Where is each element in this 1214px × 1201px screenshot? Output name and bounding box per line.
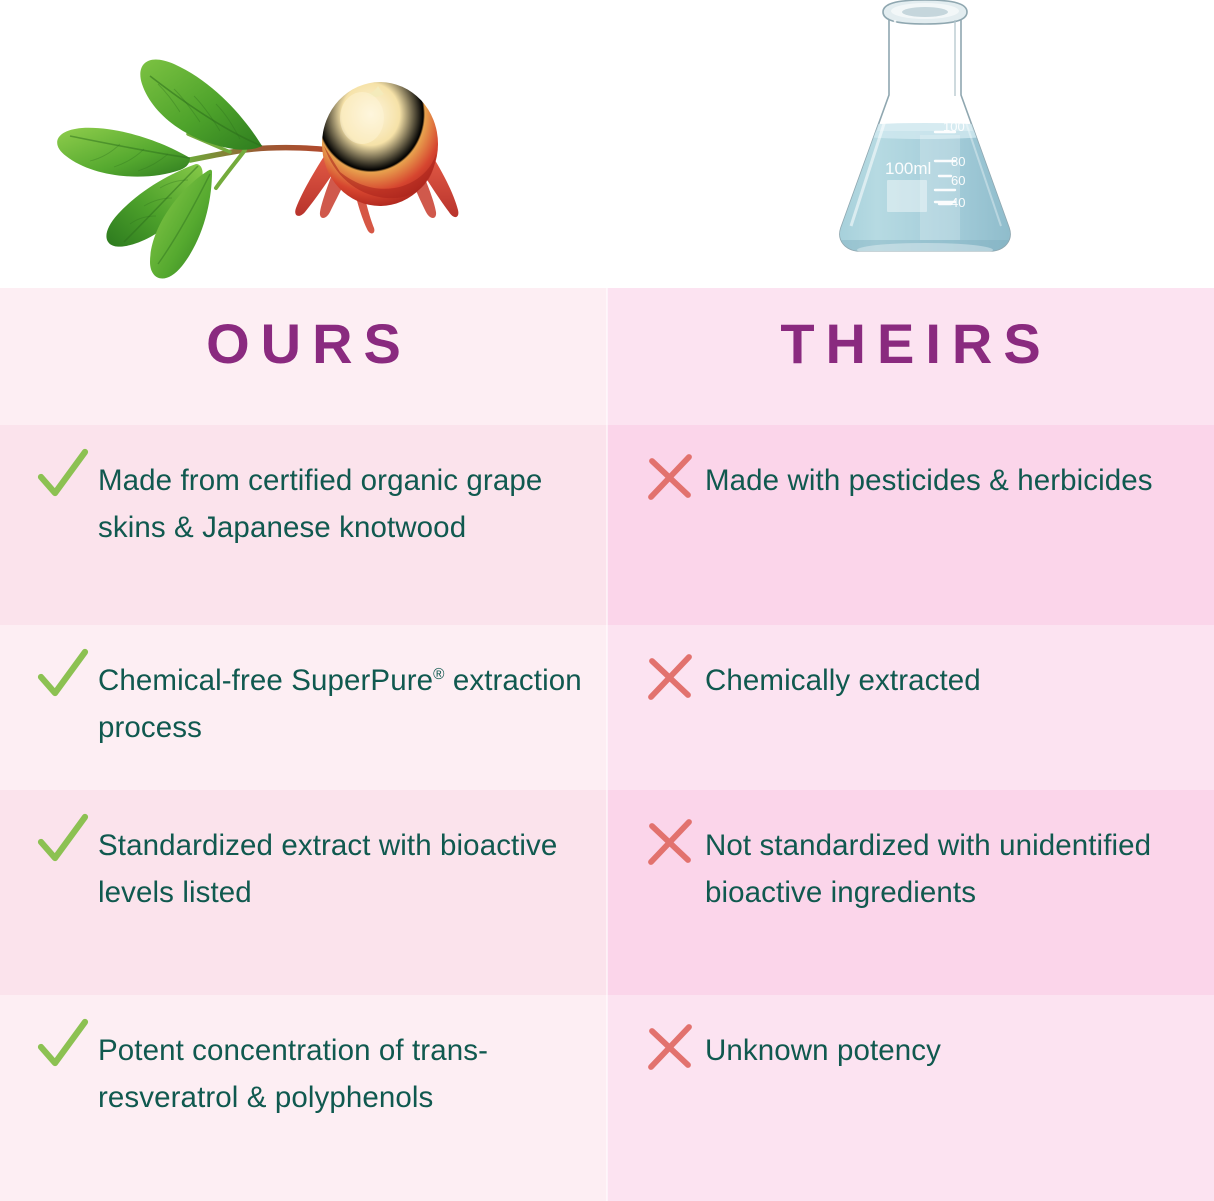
comparison-infographic: 100 80 60 40 100ml <box>0 0 1214 1201</box>
ours-row-4: Potent concentration of trans-resveratro… <box>0 995 607 1201</box>
checkmark-icon <box>34 447 92 505</box>
column-header-ours: OURS <box>0 288 607 425</box>
erlenmeyer-flask-photo: 100 80 60 40 100ml <box>815 0 1035 270</box>
column-theirs: THEIRS Made with pesticides & herbicides <box>607 288 1214 1201</box>
checkmark-icon <box>34 647 92 705</box>
theirs-item-1-text: Made with pesticides & herbicides <box>705 455 1190 504</box>
cross-icon <box>641 447 699 505</box>
theirs-heading: THEIRS <box>607 316 1214 372</box>
comparison-table: OURS Made from certified organic grape s… <box>0 288 1214 1201</box>
ours-heading: OURS <box>0 316 607 372</box>
hero-cell-ours <box>0 0 607 288</box>
ours-item-1-text: Made from certified organic grape skins … <box>98 455 583 551</box>
checkmark-icon <box>34 1017 92 1075</box>
theirs-item-4-text: Unknown potency <box>705 1025 1190 1074</box>
ours-item-4-text: Potent concentration of trans-resveratro… <box>98 1025 583 1121</box>
theirs-row-1: Made with pesticides & herbicides <box>607 425 1214 625</box>
flask-graduation-100: 100 <box>943 119 965 134</box>
ours-row-1: Made from certified organic grape skins … <box>0 425 607 625</box>
ours-item-3-text: Standardized extract with bioactive leve… <box>98 820 583 916</box>
theirs-row-3: Not standardized with unidentified bioac… <box>607 790 1214 995</box>
knotwood-leaves-and-fruit-photo <box>40 22 490 284</box>
cross-icon <box>641 1017 699 1075</box>
ours-item-2-main: Chemical-free SuperPure <box>98 664 433 697</box>
ours-row-3: Standardized extract with bioactive leve… <box>0 790 607 995</box>
hero-image-band: 100 80 60 40 100ml <box>0 0 1214 288</box>
cross-icon <box>641 812 699 870</box>
cross-icon <box>641 647 699 705</box>
theirs-row-4: Unknown potency <box>607 995 1214 1201</box>
flask-graduation-40: 40 <box>951 195 965 210</box>
column-header-theirs: THEIRS <box>607 288 1214 425</box>
ours-item-2-text: Chemical-free SuperPure® extraction proc… <box>98 655 583 751</box>
column-ours: OURS Made from certified organic grape s… <box>0 288 607 1201</box>
theirs-item-2-text: Chemically extracted <box>705 655 1190 704</box>
hero-cell-theirs: 100 80 60 40 100ml <box>607 0 1214 288</box>
flask-volume-label: 100ml <box>885 159 931 178</box>
ours-row-2: Chemical-free SuperPure® extraction proc… <box>0 625 607 790</box>
flask-graduation-60: 60 <box>951 173 965 188</box>
registered-trademark-symbol: ® <box>433 666 444 683</box>
theirs-row-2: Chemically extracted <box>607 625 1214 790</box>
theirs-item-3-text: Not standardized with unidentified bioac… <box>705 820 1190 916</box>
column-divider <box>606 288 608 1201</box>
checkmark-icon <box>34 812 92 870</box>
flask-graduation-80: 80 <box>951 154 965 169</box>
